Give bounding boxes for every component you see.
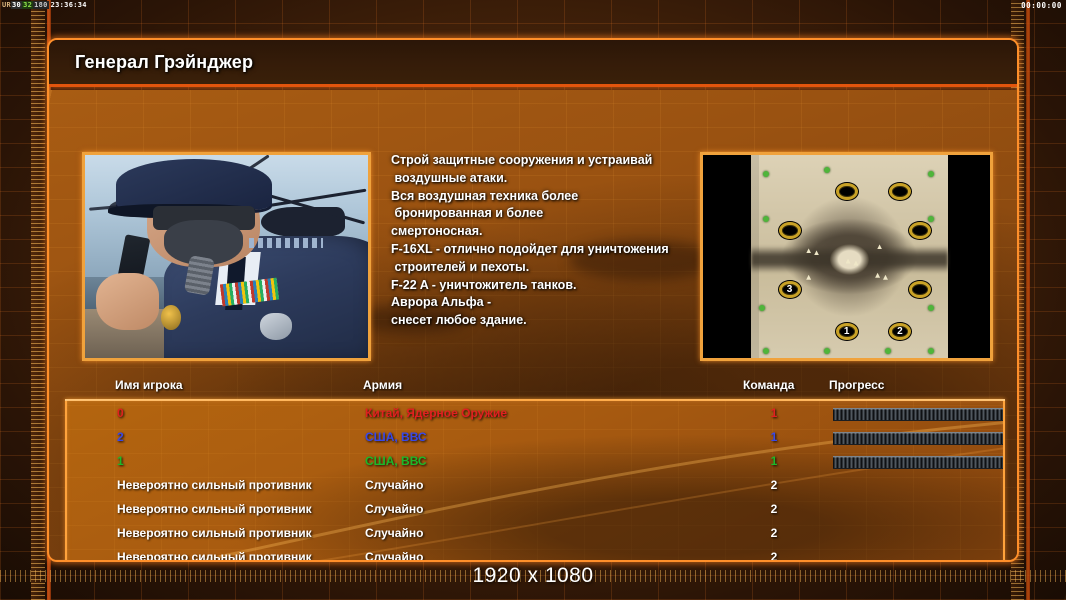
progress-bar bbox=[833, 432, 1005, 445]
column-header-progress: Прогресс bbox=[829, 378, 884, 392]
player-army: Случайно bbox=[365, 526, 423, 540]
start-position-marker[interactable] bbox=[779, 222, 801, 239]
supply-marker-icon bbox=[824, 348, 830, 354]
player-army: Случайно bbox=[365, 550, 423, 562]
left-ruler-strip bbox=[31, 0, 45, 600]
player-team: 2 bbox=[755, 478, 793, 492]
table-row[interactable]: 1США, ВВС1 bbox=[67, 451, 1003, 475]
start-position-marker[interactable] bbox=[909, 222, 931, 239]
supply-marker-icon bbox=[928, 305, 934, 311]
minimap-preview[interactable]: 312 bbox=[700, 152, 993, 361]
supply-marker-icon bbox=[763, 348, 769, 354]
player-name: 1 bbox=[117, 454, 124, 468]
player-army: Случайно bbox=[365, 502, 423, 516]
player-name: Невероятно сильный противник bbox=[117, 550, 312, 562]
player-team: 1 bbox=[755, 430, 793, 444]
supply-marker-icon bbox=[928, 348, 934, 354]
column-header-player: Имя игрока bbox=[115, 378, 183, 392]
page-title: Генерал Грэйнджер bbox=[75, 52, 253, 73]
player-team: 1 bbox=[755, 406, 793, 420]
general-hand bbox=[96, 273, 158, 330]
player-team: 2 bbox=[755, 502, 793, 516]
debug-overlay-left: UR303218023:36:34 bbox=[2, 1, 87, 10]
player-army: США, ВВС bbox=[365, 454, 427, 468]
hud-value-2: 32 bbox=[22, 1, 33, 9]
start-position-marker[interactable] bbox=[909, 281, 931, 298]
window-body: Строй защитные сооружения и устраивай во… bbox=[49, 90, 1017, 560]
tech-building-icon bbox=[806, 275, 811, 280]
player-name: 2 bbox=[117, 430, 124, 444]
supply-marker-icon bbox=[885, 348, 891, 354]
supply-marker-icon bbox=[824, 167, 830, 173]
table-row[interactable]: Невероятно сильный противникСлучайно2 bbox=[67, 499, 1003, 523]
rank-stars-icon bbox=[249, 238, 323, 248]
window-title-bar: Генерал Грэйнджер bbox=[49, 40, 1017, 87]
start-position-marker[interactable]: 2 bbox=[889, 323, 911, 340]
wings-badge-icon bbox=[260, 313, 291, 339]
column-header-army: Армия bbox=[363, 378, 402, 392]
table-row[interactable]: Невероятно сильный противникСлучайно2 bbox=[67, 523, 1003, 547]
player-army: Китай, Ядерное Оружие bbox=[365, 406, 507, 420]
progress-bar bbox=[833, 408, 1005, 421]
table-row[interactable]: Невероятно сильный противникСлучайно2 bbox=[67, 547, 1003, 562]
table-row[interactable]: 2США, ВВС1 bbox=[67, 427, 1003, 451]
supply-marker-icon bbox=[759, 305, 765, 311]
supply-marker-icon bbox=[763, 216, 769, 222]
general-portrait bbox=[82, 152, 371, 361]
game-setup-window: Генерал Грэйнджер bbox=[47, 38, 1019, 562]
start-position-marker[interactable] bbox=[836, 183, 858, 200]
supply-marker-icon bbox=[928, 216, 934, 222]
player-name: Невероятно сильный противник bbox=[117, 502, 312, 516]
player-table-header: Имя игрока Армия Команда Прогресс bbox=[49, 378, 1017, 400]
supply-marker-icon bbox=[928, 171, 934, 177]
hud-label: UR bbox=[2, 1, 11, 9]
hud-clock: 23:36:34 bbox=[51, 1, 87, 9]
minimap-center-feature bbox=[830, 244, 869, 274]
player-name: 0 bbox=[117, 406, 124, 420]
resolution-label: 1920 x 1080 bbox=[0, 564, 1066, 588]
player-name: Невероятно сильный противник bbox=[117, 478, 312, 492]
portrait-image bbox=[85, 155, 368, 358]
column-header-team: Команда bbox=[743, 378, 794, 392]
right-accent-bar bbox=[1026, 0, 1030, 600]
start-position-marker[interactable]: 1 bbox=[836, 323, 858, 340]
hud-value-3: 180 bbox=[33, 1, 49, 9]
supply-marker-icon bbox=[763, 171, 769, 177]
hud-value-1: 30 bbox=[11, 1, 22, 9]
medal-icon bbox=[161, 305, 181, 329]
player-team: 2 bbox=[755, 526, 793, 540]
player-army: США, ВВС bbox=[365, 430, 427, 444]
table-row[interactable]: 0Китай, Ядерное Оружие1 bbox=[67, 403, 1003, 427]
player-team: 1 bbox=[755, 454, 793, 468]
progress-bar bbox=[833, 456, 1005, 469]
general-description: Строй защитные сооружения и устраивай во… bbox=[391, 152, 721, 330]
player-name: Невероятно сильный противник bbox=[117, 526, 312, 540]
start-position-marker[interactable]: 3 bbox=[779, 281, 801, 298]
start-position-marker[interactable] bbox=[889, 183, 911, 200]
table-row[interactable]: Невероятно сильный противникСлучайно2 bbox=[67, 475, 1003, 499]
player-table: 0Китай, Ядерное Оружие12США, ВВС11США, В… bbox=[65, 401, 1005, 562]
game-timer: 00:00:00 bbox=[1021, 1, 1062, 10]
player-team: 2 bbox=[755, 550, 793, 562]
tech-building-icon bbox=[875, 273, 880, 278]
tech-building-icon bbox=[883, 275, 888, 280]
player-army: Случайно bbox=[365, 478, 423, 492]
officer-cap bbox=[116, 159, 272, 210]
minimap-terrain: 312 bbox=[751, 155, 948, 358]
